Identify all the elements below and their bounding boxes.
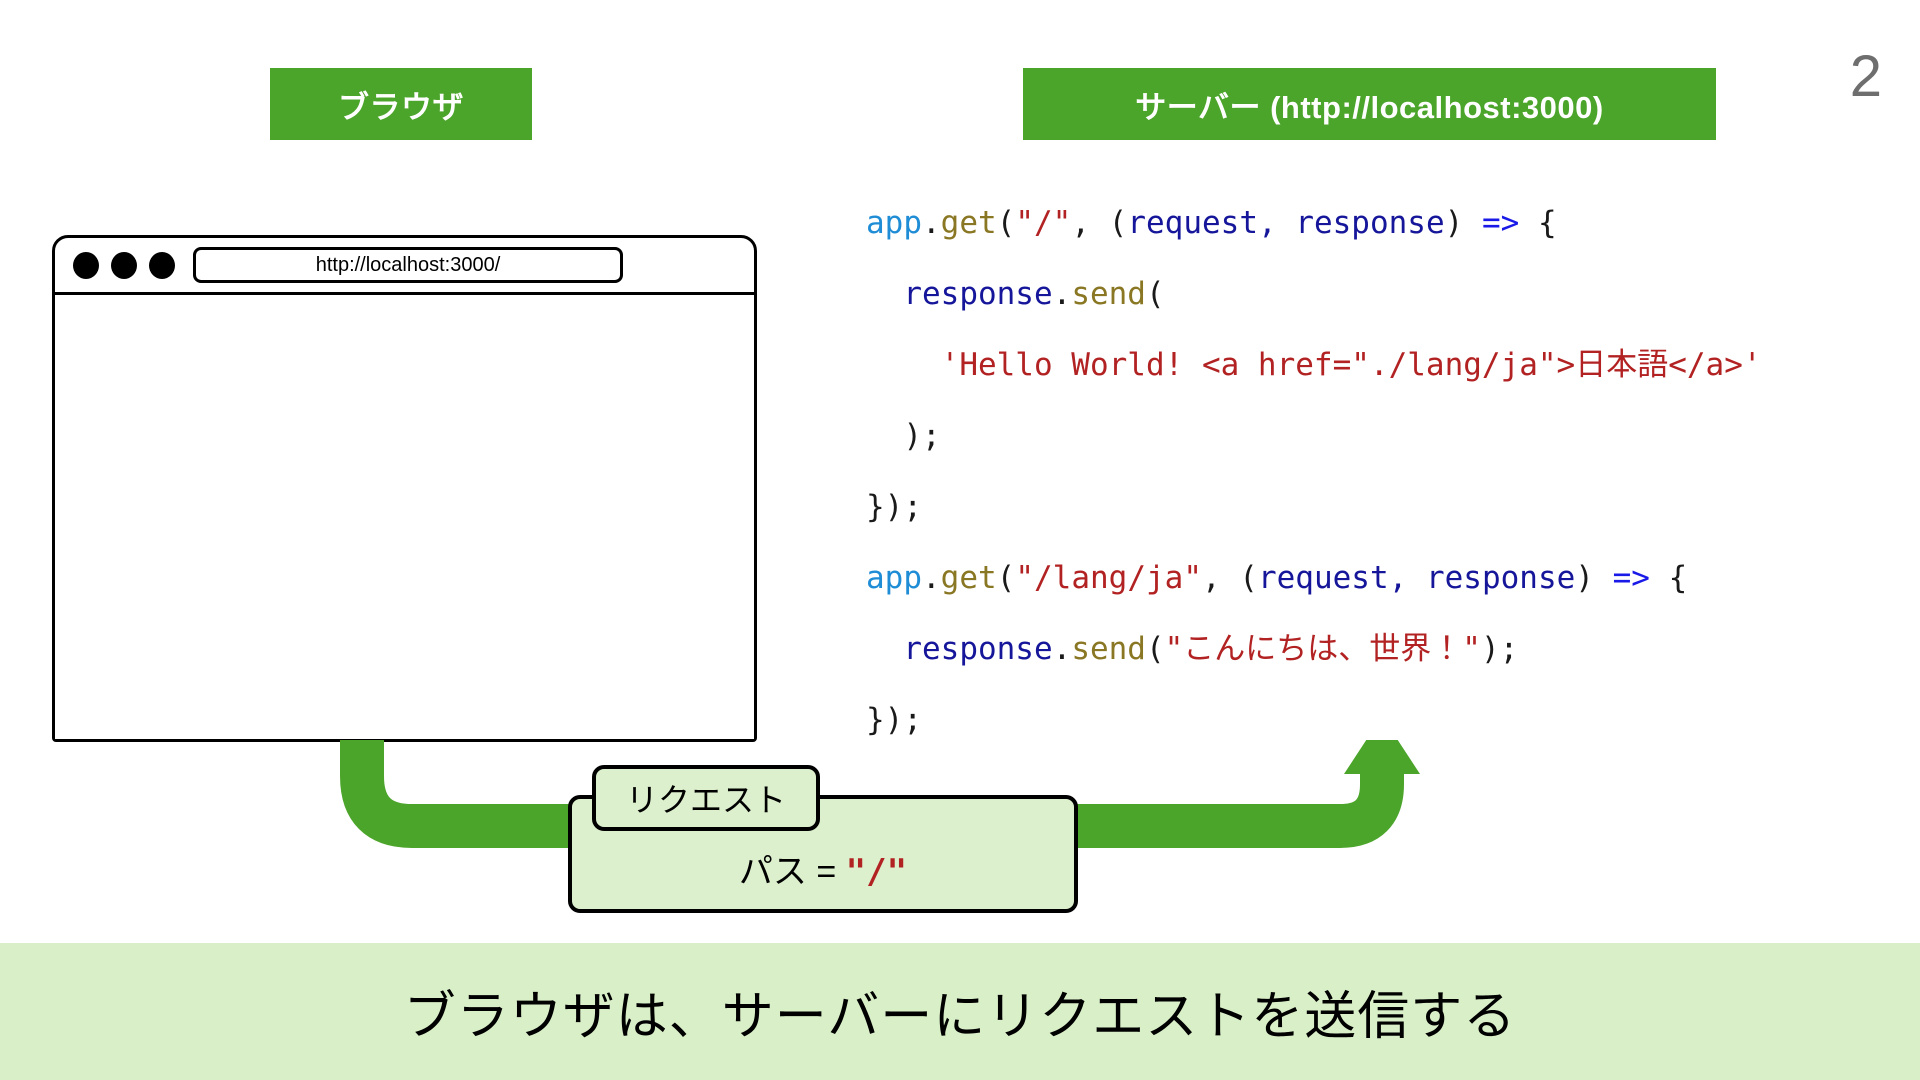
code-line: }); <box>866 472 1762 543</box>
browser-panel-header: ブラウザ <box>270 68 532 140</box>
code-token: ( <box>997 205 1016 241</box>
code-indent <box>866 347 941 383</box>
code-token: request, response <box>1127 205 1444 241</box>
code-token: send <box>1071 276 1146 312</box>
code-token: request, response <box>1258 560 1575 596</box>
request-callout-tab: リクエスト <box>592 765 820 831</box>
code-token: }); <box>866 702 922 738</box>
code-token: ( <box>1146 631 1165 667</box>
code-indent <box>866 276 903 312</box>
code-token: 'Hello World! <a href="./lang/ja">日本語</a… <box>941 347 1762 383</box>
code-token: response <box>903 631 1052 667</box>
code-token: ) <box>1575 560 1612 596</box>
code-line: app.get("/lang/ja", (request, response) … <box>866 543 1762 614</box>
code-token: => <box>1482 205 1519 241</box>
code-indent <box>866 418 903 454</box>
window-dot-icon-1[interactable] <box>73 252 99 279</box>
code-token: get <box>941 560 997 596</box>
browser-panel-header-label: ブラウザ <box>338 82 464 127</box>
code-token: app <box>866 205 922 241</box>
code-line: response.send( <box>866 259 1762 330</box>
server-code-block: app.get("/", (request, response) => { re… <box>866 188 1762 756</box>
code-token: . <box>922 560 941 596</box>
code-line: app.get("/", (request, response) => { <box>866 188 1762 259</box>
address-bar-input[interactable]: http://localhost:3000/ <box>193 247 623 283</box>
code-token: "/lang/ja" <box>1015 560 1202 596</box>
window-control-dots <box>73 252 175 279</box>
code-token: "こんにちは、世界！" <box>1165 631 1481 667</box>
code-token: ); <box>1481 631 1518 667</box>
server-panel-header-label: サーバー (http://localhost:3000) <box>1135 82 1603 127</box>
code-line: ); <box>866 401 1762 472</box>
window-dot-icon-2[interactable] <box>111 252 137 279</box>
code-token: get <box>941 205 997 241</box>
code-token: . <box>1053 631 1072 667</box>
browser-viewport <box>55 295 754 739</box>
code-token: , ( <box>1202 560 1258 596</box>
code-token: ) <box>1445 205 1482 241</box>
request-callout-tab-label: リクエスト <box>626 775 786 821</box>
caption-band: ブラウザは、サーバーにリクエストを送信する <box>0 943 1920 1080</box>
address-bar-value: http://localhost:3000/ <box>316 254 501 277</box>
code-token: ( <box>997 560 1016 596</box>
code-token: response <box>903 276 1052 312</box>
code-token: => <box>1613 560 1650 596</box>
code-indent <box>866 631 903 667</box>
browser-window-mock: http://localhost:3000/ <box>52 235 757 742</box>
browser-titlebar: http://localhost:3000/ <box>55 238 754 295</box>
request-path-value: "/" <box>846 852 907 892</box>
code-token: { <box>1519 205 1556 241</box>
code-line: 'Hello World! <a href="./lang/ja">日本語</a… <box>866 330 1762 401</box>
caption-text: ブラウザは、サーバーにリクエストを送信する <box>404 974 1516 1049</box>
code-token: }); <box>866 489 922 525</box>
code-token: app <box>866 560 922 596</box>
code-token: , ( <box>1071 205 1127 241</box>
slide-number: 2 <box>1850 48 1882 106</box>
request-path-label: パス = <box>739 853 846 891</box>
code-token: ); <box>903 418 940 454</box>
window-dot-icon-3[interactable] <box>149 252 175 279</box>
code-token: { <box>1650 560 1687 596</box>
code-token: . <box>922 205 941 241</box>
code-token: send <box>1071 631 1146 667</box>
code-line: response.send("こんにちは、世界！"); <box>866 614 1762 685</box>
code-token: "/" <box>1015 205 1071 241</box>
code-token: ( <box>1146 276 1165 312</box>
server-panel-header: サーバー (http://localhost:3000) <box>1023 68 1716 140</box>
code-token: . <box>1053 276 1072 312</box>
